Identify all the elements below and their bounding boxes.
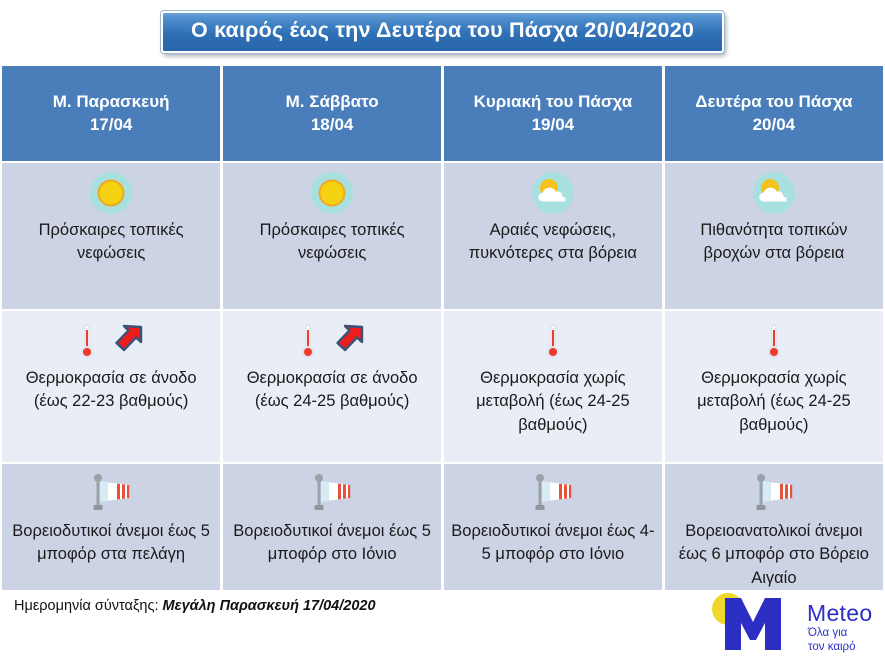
sun-icon <box>89 171 133 215</box>
thermometer-icon <box>298 319 318 363</box>
sky-conditions-row: Πρόσκαιρες τοπικές νεφώσεις Πρόσκαιρες τ… <box>1 162 884 310</box>
thermometer-icon <box>77 319 97 363</box>
icon-group <box>451 317 655 365</box>
forecast-table: Μ. Παρασκευή 17/04 Μ. Σάββατο 18/04 Κυρι… <box>0 64 885 614</box>
temperature-text: Θερμοκρασία σε άνοδο (έως 24-25 βαθμούς) <box>230 367 434 414</box>
column-header-day-2: Μ. Σάββατο 18/04 <box>222 65 443 162</box>
meteo-logo: Meteo Όλα για τον καιρό <box>695 592 877 658</box>
sky-text: Πιθανότητα τοπικών βροχών στα βόρεια <box>672 219 876 266</box>
temperature-row: Θερμοκρασία σε άνοδο (έως 22-23 βαθμούς) <box>1 310 884 463</box>
icon-group <box>230 169 434 217</box>
sky-cell-day-2: Πρόσκαιρες τοπικές νεφώσεις <box>222 162 443 310</box>
tagline-line-2: τον καιρό <box>808 641 855 653</box>
header-day-date: 18/04 <box>311 115 354 134</box>
page-title: Ο καιρός έως την Δευτέρα του Πάσχα 20/04… <box>191 18 694 42</box>
title-bar: Ο καιρός έως την Δευτέρα του Πάσχα 20/04… <box>161 11 724 53</box>
meteo-logo-wordmark: Meteo <box>807 600 872 627</box>
sun-behind-cloud-icon <box>752 171 796 215</box>
sky-cell-day-4: Πιθανότητα τοπικών βροχών στα βόρεια <box>663 162 884 310</box>
temperature-cell-day-2: Θερμοκρασία σε άνοδο (έως 24-25 βαθμούς) <box>222 310 443 463</box>
sun-icon <box>310 171 354 215</box>
temperature-text: Θερμοκρασία σε άνοδο (έως 22-23 βαθμούς) <box>9 367 213 414</box>
icon-group <box>9 317 213 365</box>
sky-text: Πρόσκαιρες τοπικές νεφώσεις <box>230 219 434 266</box>
title-banner: Ο καιρός έως την Δευτέρα του Πάσχα 20/04… <box>0 0 885 64</box>
header-day-name: Κυριακή του Πάσχα <box>474 92 633 111</box>
temperature-cell-day-3: Θερμοκρασία χωρίς μεταβολή (έως 24-25 βα… <box>443 310 664 463</box>
header-day-date: 17/04 <box>90 115 133 134</box>
icon-group <box>9 169 213 217</box>
column-header-day-4: Δευτέρα του Πάσχα 20/04 <box>663 65 884 162</box>
icon-group <box>230 317 434 365</box>
arrow-up-right-icon <box>331 323 367 359</box>
icon-group <box>451 470 655 518</box>
table-header-row: Μ. Παρασκευή 17/04 Μ. Σάββατο 18/04 Κυρι… <box>1 65 884 162</box>
header-day-date: 20/04 <box>753 115 796 134</box>
windsock-icon <box>84 472 138 516</box>
sky-text: Αραιές νεφώσεις, πυκνότερες στα βόρεια <box>451 219 655 266</box>
icon-group <box>451 169 655 217</box>
icon-group <box>672 470 876 518</box>
header-day-date: 19/04 <box>532 115 575 134</box>
issue-date-note: Ημερομηνία σύνταξης: Μεγάλη Παρασκευή 17… <box>14 598 376 614</box>
column-header-day-3: Κυριακή του Πάσχα 19/04 <box>443 65 664 162</box>
wind-text: Βορειοδυτικοί άνεμοι έως 5 μποφόρ στο Ιό… <box>230 520 434 567</box>
thermometer-icon <box>543 319 563 363</box>
icon-group <box>672 317 876 365</box>
thermometer-icon <box>764 319 784 363</box>
sky-cell-day-1: Πρόσκαιρες τοπικές νεφώσεις <box>1 162 222 310</box>
sky-cell-day-3: Αραιές νεφώσεις, πυκνότερες στα βόρεια <box>443 162 664 310</box>
column-header-day-1: Μ. Παρασκευή 17/04 <box>1 65 222 162</box>
header-day-name: Δευτέρα του Πάσχα <box>695 92 852 111</box>
arrow-up-right-icon <box>110 323 146 359</box>
meteo-logo-mark <box>695 592 803 654</box>
wind-text: Βορειοδυτικοί άνεμοι έως 5 μποφόρ στα πε… <box>9 520 213 567</box>
header-day-name: Μ. Σάββατο <box>286 92 379 111</box>
icon-group <box>230 470 434 518</box>
sun-behind-cloud-icon <box>531 171 575 215</box>
windsock-icon <box>305 472 359 516</box>
footer: Ημερομηνία σύνταξης: Μεγάλη Παρασκευή 17… <box>0 590 885 666</box>
wind-text: Βορειοδυτικοί άνεμοι έως 4-5 μποφόρ στο … <box>451 520 655 567</box>
windsock-icon <box>747 472 801 516</box>
header-day-name: Μ. Παρασκευή <box>53 92 170 111</box>
tagline-line-1: Όλα για <box>808 627 847 639</box>
icon-group <box>672 169 876 217</box>
meteo-logo-tagline: Όλα για τον καιρό <box>808 626 855 654</box>
sky-text: Πρόσκαιρες τοπικές νεφώσεις <box>9 219 213 266</box>
temperature-text: Θερμοκρασία χωρίς μεταβολή (έως 24-25 βα… <box>672 367 876 437</box>
temperature-text: Θερμοκρασία χωρίς μεταβολή (έως 24-25 βα… <box>451 367 655 437</box>
windsock-icon <box>526 472 580 516</box>
temperature-cell-day-1: Θερμοκρασία σε άνοδο (έως 22-23 βαθμούς) <box>1 310 222 463</box>
issue-date-value: Μεγάλη Παρασκευή 17/04/2020 <box>163 598 376 614</box>
issue-date-label: Ημερομηνία σύνταξης: <box>14 598 159 614</box>
wind-text: Βορειοανατολικοί άνεμοι έως 6 μποφόρ στο… <box>672 520 876 590</box>
temperature-cell-day-4: Θερμοκρασία χωρίς μεταβολή (έως 24-25 βα… <box>663 310 884 463</box>
icon-group <box>9 470 213 518</box>
